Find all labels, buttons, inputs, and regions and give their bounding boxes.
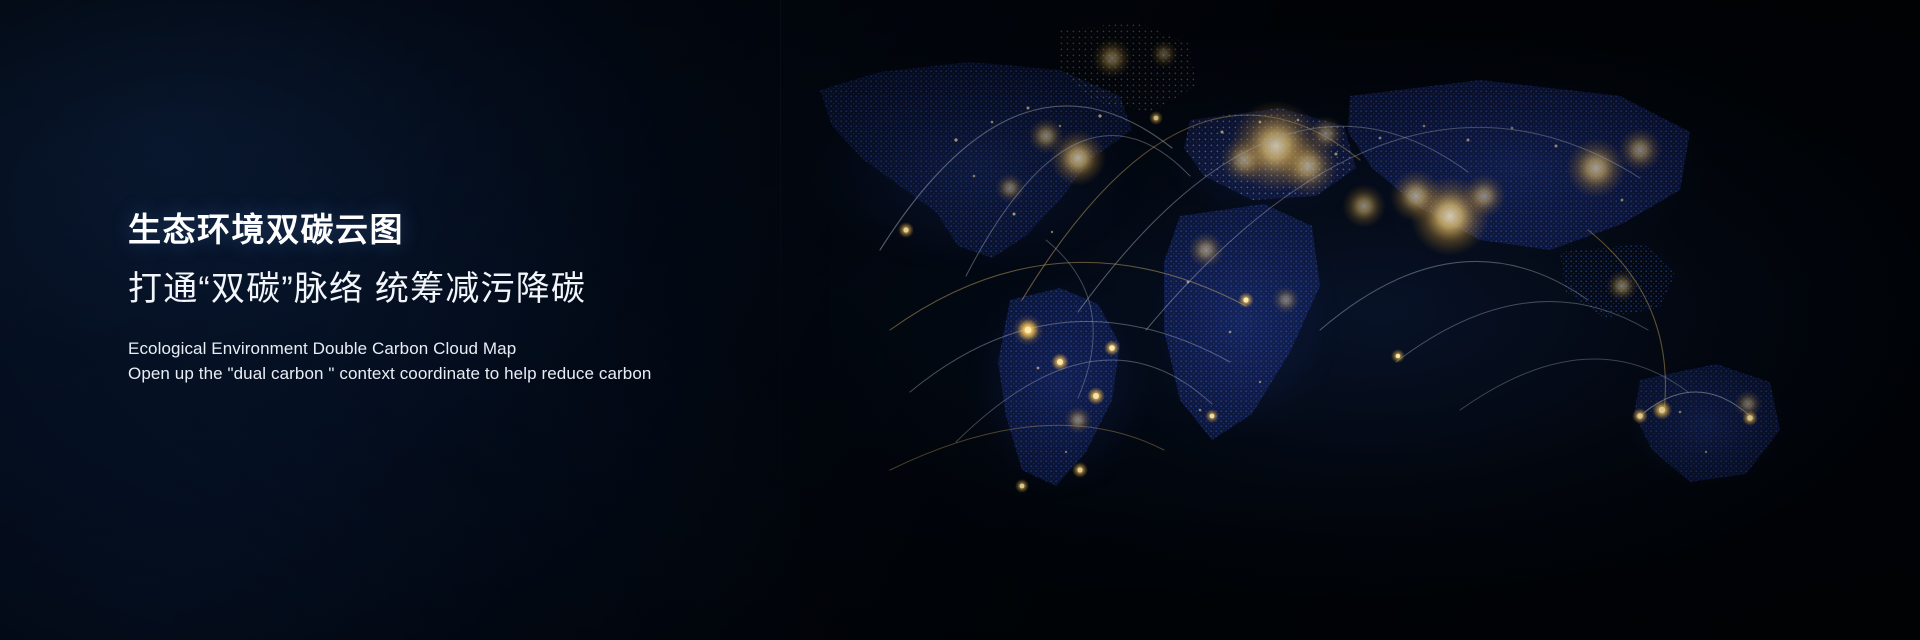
- page-title: 生态环境双碳云图: [128, 208, 748, 252]
- hero-copy: 生态环境双碳云图 打通“双碳”脉络 统筹减污降碳 Ecological Envi…: [128, 208, 748, 386]
- page-subtitle: 打通“双碳”脉络 统筹减污降碳: [128, 266, 748, 312]
- english-subtitle-line-1: Ecological Environment Double Carbon Clo…: [128, 336, 748, 361]
- english-subtitle-line-2: Open up the "dual carbon " context coord…: [128, 361, 748, 386]
- english-subtitle-block: Ecological Environment Double Carbon Clo…: [128, 336, 748, 386]
- hero-banner: 生态环境双碳云图 打通“双碳”脉络 统筹减污降碳 Ecological Envi…: [0, 0, 1920, 640]
